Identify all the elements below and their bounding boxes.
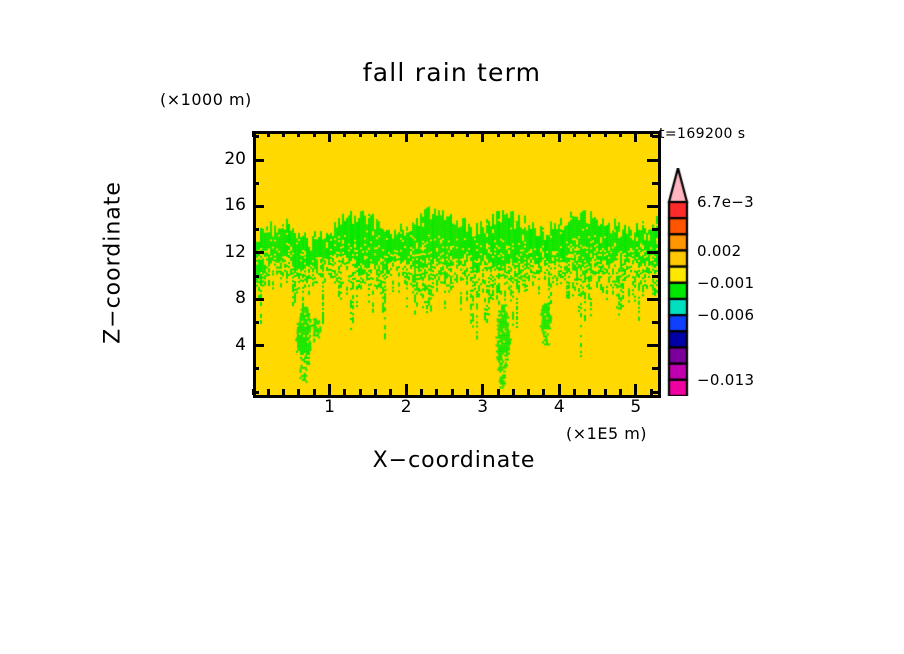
plot-area — [253, 131, 661, 398]
y-tick-label: 8 — [206, 288, 246, 308]
contour-plot-canvas — [256, 134, 658, 395]
x-minor-tick-top — [573, 131, 576, 137]
colorbar-tick-label: −0.001 — [697, 274, 754, 292]
x-tick-label: 1 — [315, 397, 345, 417]
x-major-tick-top — [481, 131, 484, 142]
x-minor-tick — [542, 389, 545, 395]
x-minor-tick-top — [435, 131, 438, 137]
colorbar-canvas — [666, 168, 690, 396]
x-minor-tick-top — [297, 131, 300, 137]
y-minor-tick-right — [652, 228, 658, 231]
x-major-tick — [481, 384, 484, 395]
x-minor-tick — [573, 389, 576, 395]
timestamp-annotation: t=169200 s — [659, 126, 745, 142]
x-minor-tick-top — [466, 131, 469, 137]
colorbar-tick-label: 6.7e−3 — [697, 193, 754, 211]
y-major-tick — [253, 205, 264, 208]
x-major-tick — [328, 384, 331, 395]
y-minor-tick — [253, 391, 259, 394]
y-minor-tick — [253, 228, 259, 231]
y-minor-tick-right — [652, 367, 658, 370]
x-minor-tick-top — [313, 131, 316, 137]
y-tick-label: 16 — [206, 195, 246, 215]
x-minor-tick — [374, 389, 377, 395]
x-minor-tick-top — [588, 131, 591, 137]
y-tick-label: 4 — [206, 335, 246, 355]
x-minor-tick — [512, 389, 515, 395]
y-major-tick-right — [647, 159, 658, 162]
y-minor-tick-right — [652, 182, 658, 185]
x-axis-title: X−coordinate — [254, 448, 654, 473]
x-minor-tick — [619, 389, 622, 395]
x-minor-tick-top — [389, 131, 392, 137]
x-minor-tick-top — [420, 131, 423, 137]
x-minor-tick — [267, 389, 270, 395]
x-minor-tick — [359, 389, 362, 395]
x-minor-tick — [420, 389, 423, 395]
x-major-tick-top — [558, 131, 561, 142]
x-minor-tick — [343, 389, 346, 395]
y-major-tick — [253, 298, 264, 301]
colorbar — [666, 168, 690, 396]
x-major-tick-top — [328, 131, 331, 142]
y-minor-tick-right — [652, 391, 658, 394]
page-title: fall rain term — [0, 58, 904, 87]
y-minor-tick-right — [652, 275, 658, 278]
x-tick-label: 2 — [391, 397, 421, 417]
colorbar-tick-label: −0.006 — [697, 306, 754, 324]
y-major-tick-right — [647, 344, 658, 347]
y-major-tick — [253, 344, 264, 347]
y-major-tick — [253, 159, 264, 162]
y-major-tick — [253, 251, 264, 254]
y-minor-tick — [253, 182, 259, 185]
colorbar-tick-label: −0.013 — [697, 371, 754, 389]
x-minor-tick — [313, 389, 316, 395]
y-tick-label: 20 — [206, 149, 246, 169]
y-minor-tick-right — [652, 321, 658, 324]
x-tick-label: 3 — [468, 397, 498, 417]
x-minor-tick — [435, 389, 438, 395]
x-minor-tick — [527, 389, 530, 395]
y-minor-tick — [253, 367, 259, 370]
x-major-tick — [558, 384, 561, 395]
y-tick-label: 12 — [206, 242, 246, 262]
x-minor-tick-top — [604, 131, 607, 137]
x-minor-tick — [588, 389, 591, 395]
y-axis-unit-label: (×1000 m) — [160, 90, 252, 109]
x-minor-tick — [297, 389, 300, 395]
y-major-tick-right — [647, 251, 658, 254]
y-major-tick-right — [647, 205, 658, 208]
x-minor-tick-top — [359, 131, 362, 137]
y-minor-tick — [253, 275, 259, 278]
plot-page: fall rain term (×1000 m) t=169200 s 1234… — [0, 0, 904, 654]
x-minor-tick-top — [527, 131, 530, 137]
y-minor-tick — [253, 135, 259, 138]
x-major-tick — [634, 384, 637, 395]
x-tick-label: 5 — [621, 397, 651, 417]
x-axis-unit-label: (×1E5 m) — [566, 424, 647, 443]
x-minor-tick-top — [343, 131, 346, 137]
x-minor-tick — [389, 389, 392, 395]
y-minor-tick — [253, 321, 259, 324]
x-minor-tick-top — [374, 131, 377, 137]
y-minor-tick-right — [652, 135, 658, 138]
x-minor-tick-top — [451, 131, 454, 137]
y-major-tick-right — [647, 298, 658, 301]
x-minor-tick — [451, 389, 454, 395]
colorbar-tick-label: 0.002 — [697, 242, 741, 260]
x-minor-tick — [604, 389, 607, 395]
x-minor-tick-top — [282, 131, 285, 137]
x-minor-tick-top — [512, 131, 515, 137]
x-minor-tick — [282, 389, 285, 395]
x-minor-tick — [466, 389, 469, 395]
x-major-tick — [405, 384, 408, 395]
y-axis-title: Z−coordinate — [101, 143, 126, 383]
x-minor-tick-top — [497, 131, 500, 137]
x-minor-tick-top — [619, 131, 622, 137]
x-minor-tick-top — [542, 131, 545, 137]
x-minor-tick — [497, 389, 500, 395]
x-major-tick-top — [634, 131, 637, 142]
x-minor-tick-top — [267, 131, 270, 137]
x-major-tick-top — [405, 131, 408, 142]
x-tick-label: 4 — [544, 397, 574, 417]
